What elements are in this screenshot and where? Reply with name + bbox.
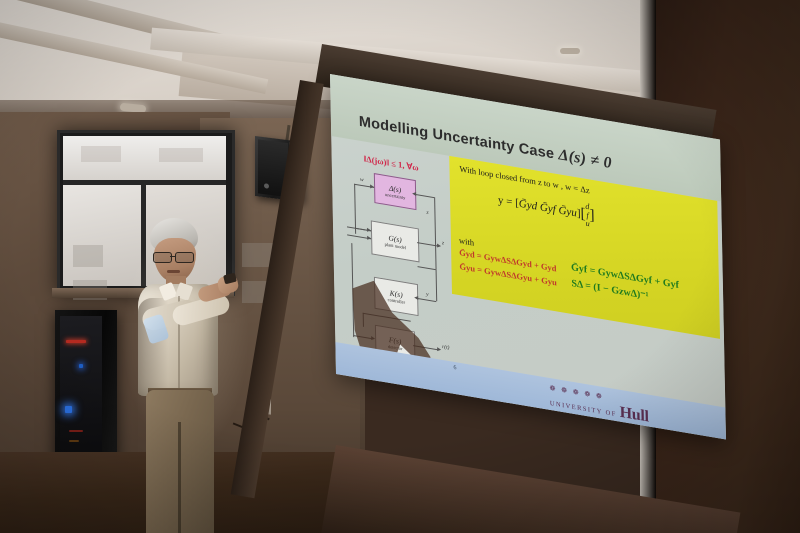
slide-number: 6 xyxy=(453,365,456,372)
rack-led-blue-icon xyxy=(79,364,83,368)
block-plant-model: G(s) plant model xyxy=(371,220,420,262)
glasses-icon xyxy=(153,252,198,261)
glasses-bridge xyxy=(170,256,175,257)
photo-scene: Modelling Uncertainty Case Δ(s) ≠ 0 ‖Δ(j… xyxy=(0,0,800,533)
wire xyxy=(416,298,436,302)
arrow-icon xyxy=(367,227,371,232)
glasses-lens-right xyxy=(175,252,194,263)
rack-led-icon xyxy=(69,440,79,442)
arrow-icon xyxy=(367,235,371,240)
block-plant-subtitle: plant model xyxy=(384,242,405,251)
signal-label-w: w xyxy=(360,177,364,184)
arrow-icon xyxy=(437,243,441,248)
bracket-close-icon: ] xyxy=(589,208,594,226)
projection-screen: Modelling Uncertainty Case Δ(s) ≠ 0 ‖Δ(j… xyxy=(300,40,720,510)
wire xyxy=(414,194,434,198)
wire xyxy=(434,197,436,269)
wire xyxy=(354,184,356,234)
equation-main-terms: Ḡyd Ḡyf Ḡyu xyxy=(519,198,577,220)
block-uncertainty-subtitle: uncertainty xyxy=(385,192,405,200)
rack-led-red-icon xyxy=(66,340,86,343)
arrow-icon xyxy=(414,295,418,300)
arrow-icon xyxy=(370,184,374,189)
equation-main: y = [Ḡyd Ḡyf Ḡyu][ d f u ] xyxy=(498,188,595,230)
signal-label-y: y xyxy=(426,291,429,297)
presenter xyxy=(120,218,250,533)
block-uncertainty: Δ(s) uncertainty xyxy=(374,173,417,210)
signal-label-z: z xyxy=(426,210,428,216)
logo-line-2: Hull xyxy=(620,404,649,427)
building-exterior xyxy=(81,146,121,162)
arrow-icon xyxy=(437,347,441,352)
equation-with-label: with xyxy=(459,235,474,248)
rack-led-icon xyxy=(69,430,83,432)
trouser-seam xyxy=(178,422,181,533)
signal-label-z2: z xyxy=(442,240,444,246)
wire xyxy=(418,266,436,270)
equation-main-lhs: y = [ xyxy=(498,194,519,210)
uncertainty-norm-condition: ‖Δ(jω)‖ ≤ 1, ∀ω xyxy=(363,153,418,173)
logo-line-1: UNIVERSITY OF xyxy=(550,400,617,418)
speaker-led-icon xyxy=(264,183,269,189)
building-exterior xyxy=(73,245,103,267)
rack-led-blue-icon xyxy=(65,406,72,413)
screen-lower-wall xyxy=(318,445,741,533)
window-pane xyxy=(63,136,226,180)
wire xyxy=(436,269,438,301)
glasses-lens-left xyxy=(153,252,172,263)
arrow-icon xyxy=(412,191,416,196)
building-exterior xyxy=(159,148,203,162)
presenter-mouth xyxy=(167,270,180,273)
signal-label-rt: r(t) xyxy=(442,344,449,351)
